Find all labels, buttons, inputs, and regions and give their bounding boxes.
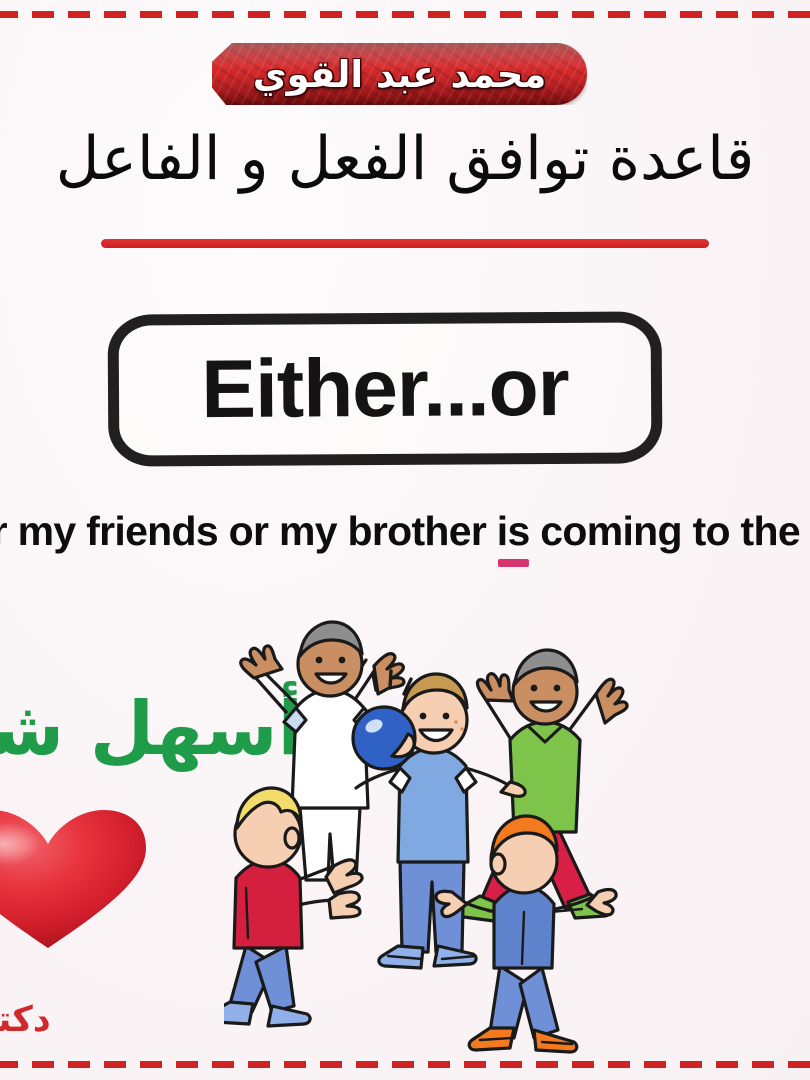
example-sentence: Either my friends or my brother is comin… [0, 508, 810, 555]
heading-divider-rule [101, 239, 709, 248]
slide-page: محمد عبد القوي قاعدة توافق الفعل و الفاع… [0, 0, 810, 1080]
top-dashed-border [0, 11, 810, 18]
celebrating-children-illustration [224, 616, 644, 1066]
highlighted-verb: is [497, 508, 530, 554]
topic-title: Either...or [108, 311, 663, 466]
bottom-dashed-border [0, 1061, 810, 1068]
page-title-arabic: قاعدة توافق الفعل و الفاعل [0, 125, 810, 194]
channel-logo-banner: محمد عبد القوي [212, 43, 587, 105]
sentence-part-after-verb: coming to the party. [530, 508, 810, 554]
heart-icon [0, 808, 148, 952]
sentence-part-before-verb: Either my friends or my brother [0, 508, 497, 554]
logo-text: محمد عبد القوي [212, 43, 587, 105]
watermark-doctor: دكتور [0, 1000, 51, 1040]
